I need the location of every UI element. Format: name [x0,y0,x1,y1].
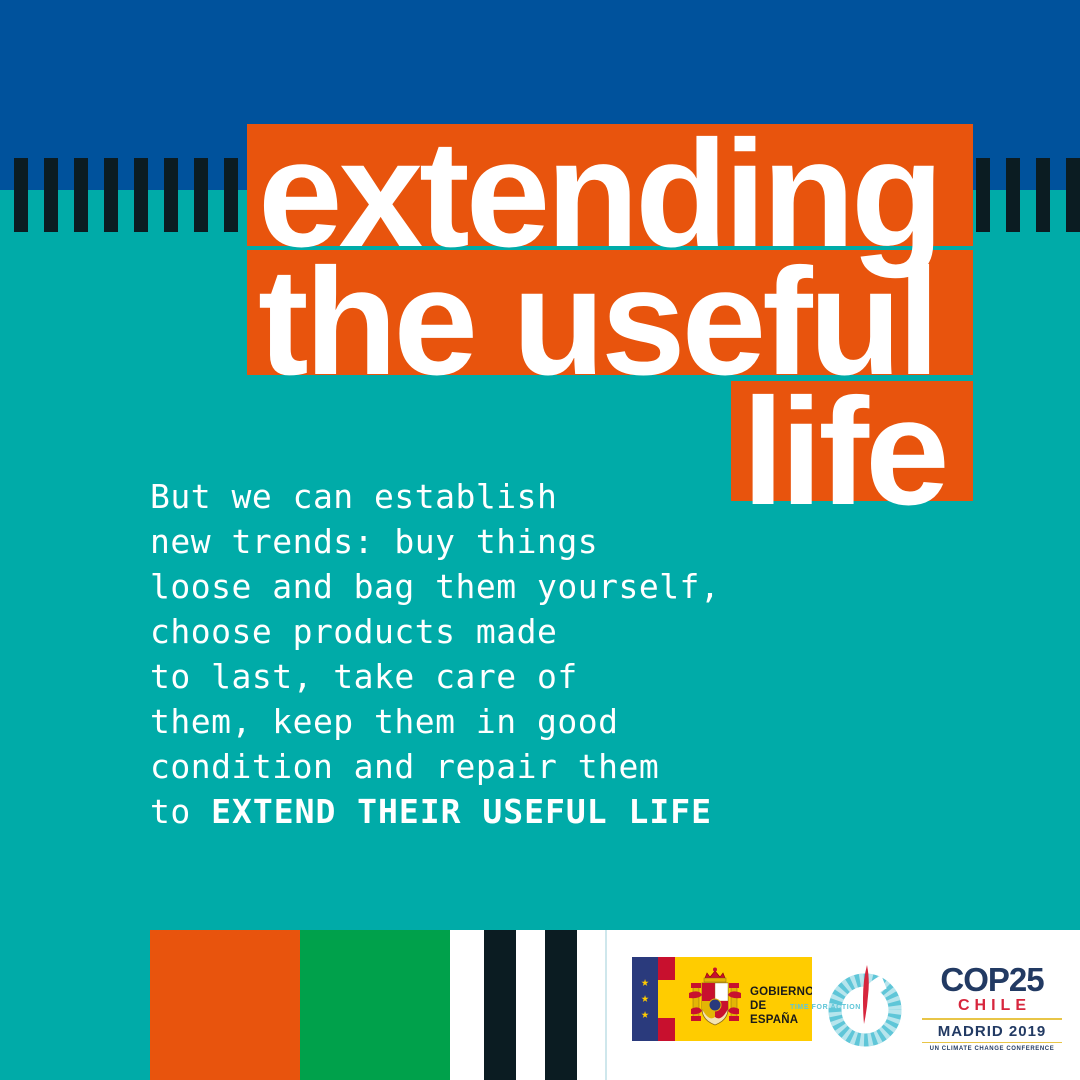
headline-group: extending the useful life [0,0,1080,520]
gobierno-de-espana-logo: ★ ★ ★ [632,957,812,1041]
eu-flag-strip: ★ ★ ★ [632,957,658,1041]
body-line: new trends: buy things [150,519,810,564]
eu-star-icon: ★ [641,975,649,991]
body-final-prefix: to [150,792,211,831]
body-line: condition and repair them [150,744,810,789]
body-line-final: to EXTEND THEIR USEFUL LIFE [150,789,810,834]
eu-star-icon: ★ [641,1007,649,1023]
footer-bar-dark-2 [545,930,577,1080]
footer-bar-dark-1 [484,930,516,1080]
spain-flag-yellow-mid [658,980,675,1018]
footer-swatch-green [300,930,450,1080]
headline-block-2 [247,250,973,375]
gobierno-label-line1: GOBIERNO [750,985,812,999]
spain-flag-red-bottom [658,1018,675,1041]
footer-logos: ★ ★ ★ [606,930,1080,1080]
headline-block-1 [247,124,973,246]
cop25-title: COP25 [922,964,1062,996]
footer-bar: ★ ★ ★ [0,930,1080,1080]
cop25-city-year: MADRID 2019 [922,1023,1062,1040]
spain-flag-red-top [658,957,675,980]
body-line: choose products made [150,609,810,654]
cop25-logo: TIME FOR ACTION COP25 CHILE MADRID 2019 … [814,948,1064,1058]
footer-swatch-orange [150,930,300,1080]
cop25-rule-top [922,1018,1062,1020]
body-line: loose and bag them yourself, [150,564,810,609]
cop25-subtitle: UN CLIMATE CHANGE CONFERENCE [922,1045,1062,1053]
eu-star-icon: ★ [641,991,649,1007]
cop25-wordmark: COP25 CHILE MADRID 2019 UN CLIMATE CHANG… [922,964,1062,1053]
body-line: them, keep them in good [150,699,810,744]
poster-canvas: extending the useful life But we can est… [0,0,1080,1080]
body-line: But we can establish [150,474,810,519]
body-line: to last, take care of [150,654,810,699]
body-copy: But we can establish new trends: buy thi… [150,474,810,834]
cop25-country: CHILE [922,996,1062,1016]
cop25-tagline: TIME FOR ACTION [790,1004,861,1011]
cop25-rule-bottom [922,1042,1062,1043]
spain-coat-of-arms-icon [687,965,743,1033]
body-final-emphasis: EXTEND THEIR USEFUL LIFE [211,792,712,831]
